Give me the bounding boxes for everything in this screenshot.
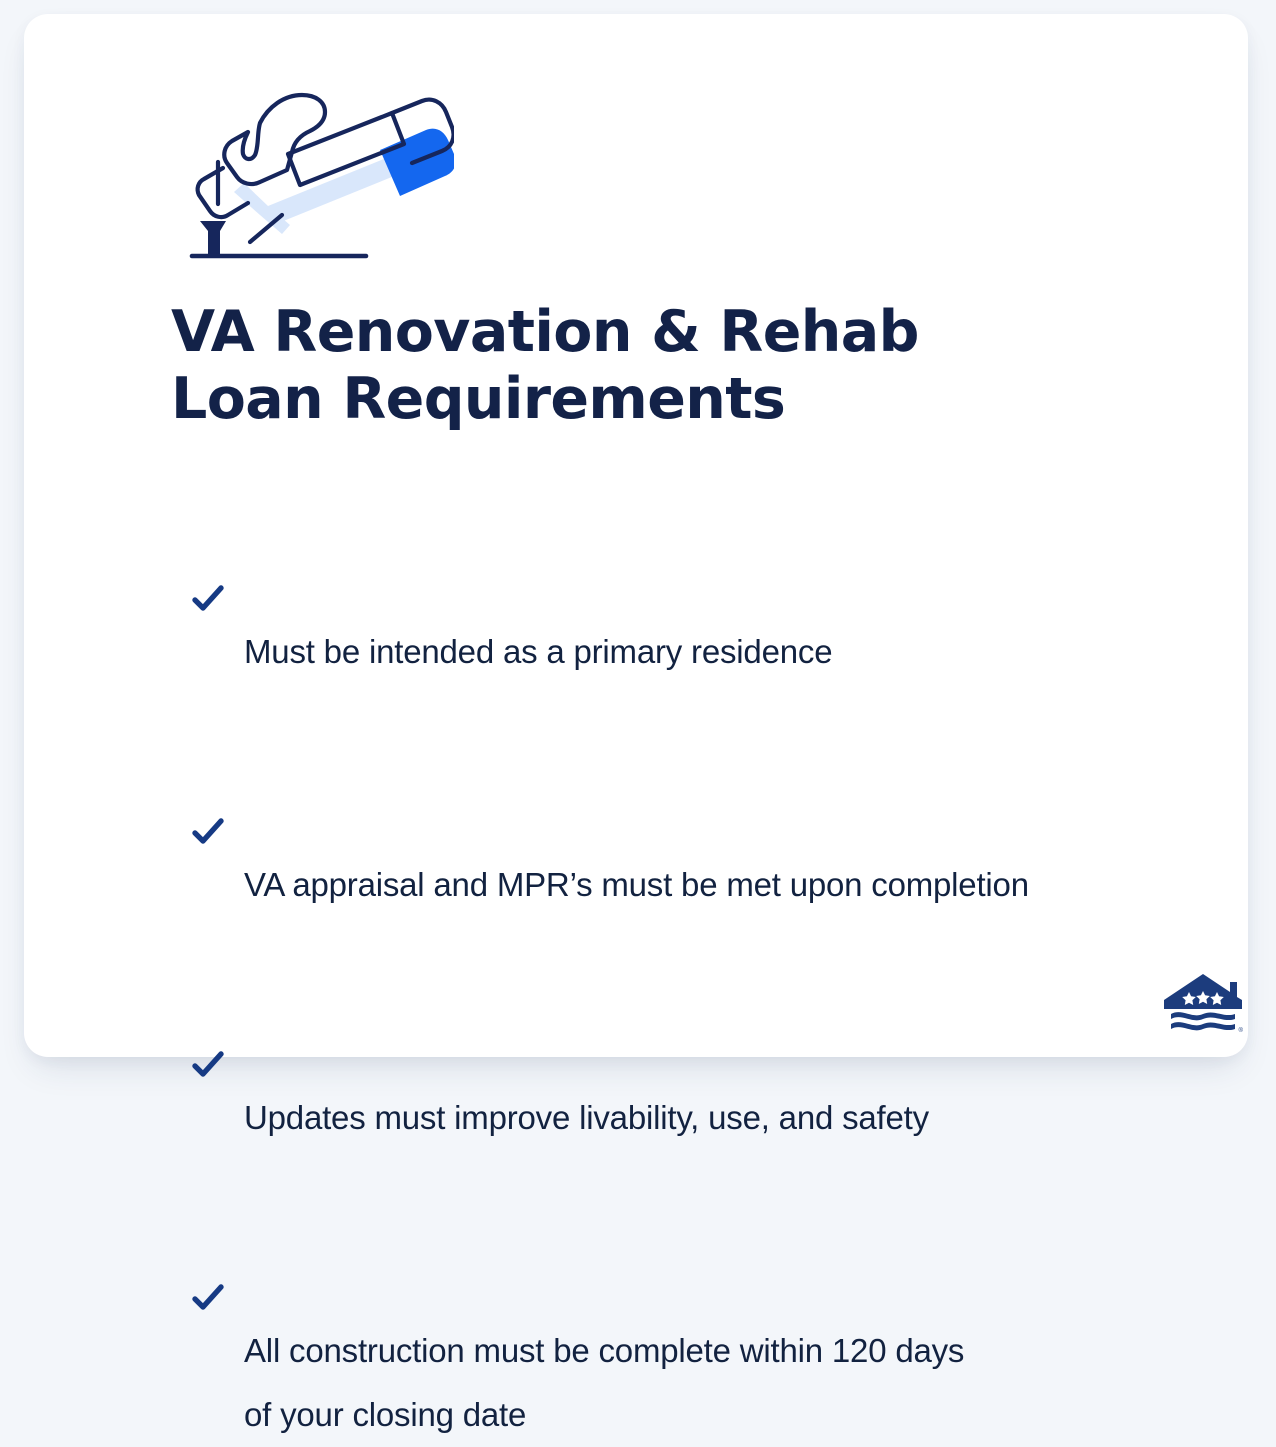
hammer-shadow (234, 154, 404, 234)
logo-waves (1171, 1012, 1235, 1030)
requirements-list: Must be intended as a primary residence … (171, 492, 1171, 1447)
house-with-stars-and-waves-logo: ® (1162, 972, 1244, 1036)
nail-icon (200, 221, 226, 255)
check-icon (192, 1207, 224, 1239)
list-item-label: Must be intended as a primary residence (244, 633, 832, 670)
registered-mark: ® (1239, 1027, 1244, 1034)
infographic-card: VA Renovation & Rehab Loan Requirements … (24, 14, 1248, 1057)
page-title-line-2: Loan Requirements (171, 366, 1071, 433)
list-item: Must be intended as a primary residence (171, 492, 1171, 684)
list-item-label: All construction must be complete within… (244, 1332, 964, 1433)
list-item: VA appraisal and MPR’s must be met upon … (171, 725, 1171, 917)
check-icon (192, 974, 224, 1006)
list-item-label: Updates must improve livability, use, an… (244, 1099, 929, 1136)
list-item: Updates must improve livability, use, an… (171, 958, 1171, 1150)
list-item: All construction must be complete within… (171, 1191, 1171, 1447)
check-icon (192, 508, 224, 540)
page-title: VA Renovation & Rehab Loan Requirements (171, 299, 1071, 433)
page-title-line-1: VA Renovation & Rehab (171, 299, 1071, 366)
check-icon (192, 741, 224, 773)
list-item-label: VA appraisal and MPR’s must be met upon … (244, 866, 1029, 903)
hammer-and-nail-illustration (164, 82, 454, 282)
